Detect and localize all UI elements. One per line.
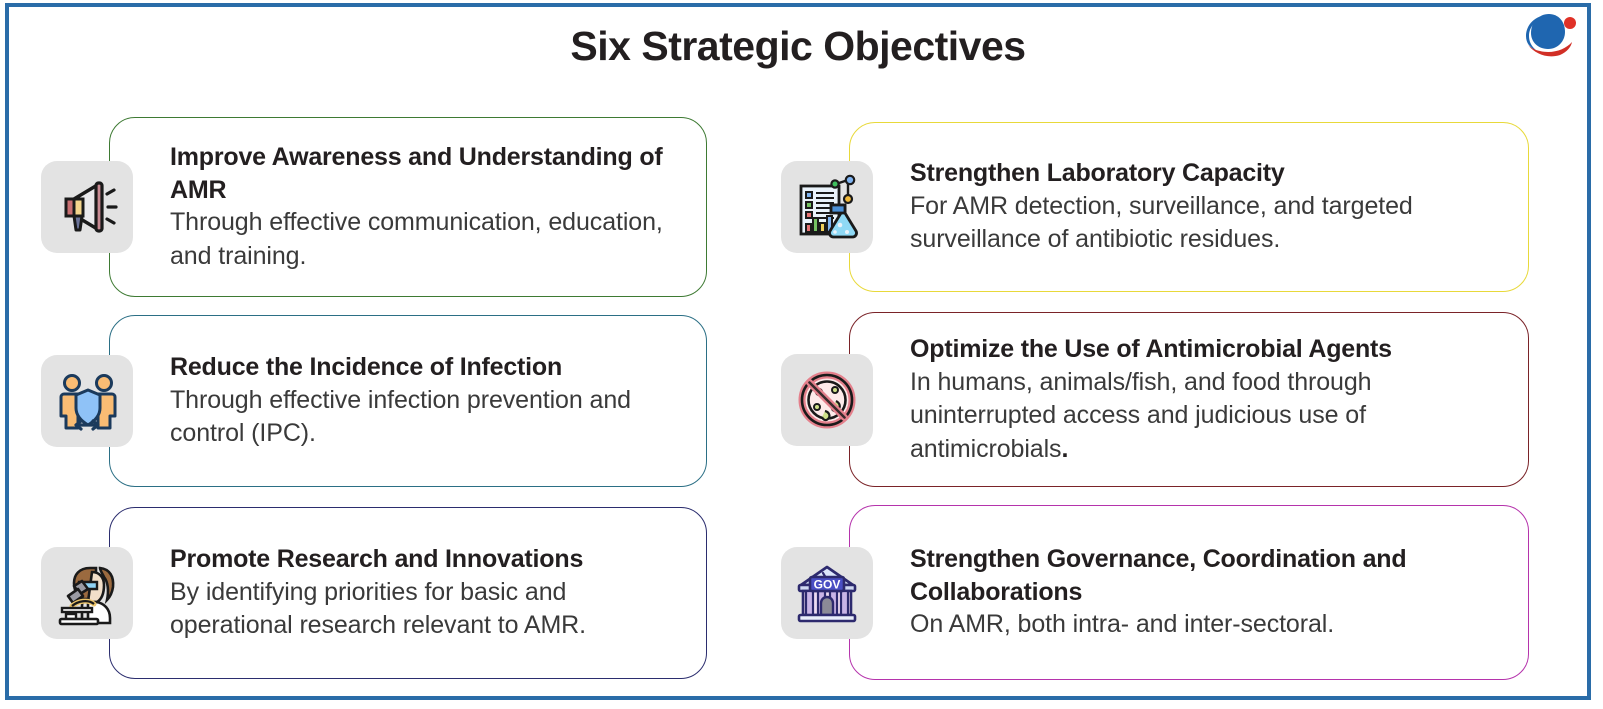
card-body: Reduce the Incidence of Infection Throug…: [109, 315, 707, 487]
objective-card-strengthen-governance[interactable]: GOV Strengthen Governance, Coordination …: [781, 505, 1529, 680]
objective-card-strengthen-laboratory[interactable]: Strengthen Laboratory Capacity For AMR d…: [781, 122, 1529, 292]
card-body: Improve Awareness and Understanding of A…: [109, 117, 707, 297]
objective-card-reduce-incidence[interactable]: Reduce the Incidence of Infection Throug…: [41, 315, 707, 487]
card-description: Through effective infection prevention a…: [170, 384, 684, 451]
lab-report-flask-icon: [781, 161, 873, 253]
svg-text:GOV: GOV: [814, 577, 841, 591]
card-description: By identifying priorities for basic and …: [170, 576, 684, 643]
card-description-period: .: [1061, 435, 1068, 463]
card-body: Optimize the Use of Antimicrobial Agents…: [849, 312, 1529, 487]
card-body: Strengthen Governance, Coordination and …: [849, 505, 1529, 680]
card-title: Strengthen Governance, Coordination and …: [910, 543, 1506, 608]
objective-card-optimize-use[interactable]: Optimize the Use of Antimicrobial Agents…: [781, 312, 1529, 487]
card-title: Improve Awareness and Understanding of A…: [170, 141, 684, 206]
card-title: Promote Research and Innovations: [170, 543, 684, 576]
card-body: Strengthen Laboratory Capacity For AMR d…: [849, 122, 1529, 292]
government-building-icon: GOV: [781, 547, 873, 639]
microscope-scientist-icon: [41, 547, 133, 639]
card-description: In humans, animals/fish, and food throug…: [910, 366, 1506, 467]
slide-frame: Six Strategic Objectives Improve Awarene…: [5, 3, 1591, 700]
card-description-main: In humans, animals/fish, and food throug…: [910, 368, 1371, 463]
objective-card-promote-research[interactable]: Promote Research and Innovations By iden…: [41, 507, 707, 679]
page-title: Six Strategic Objectives: [9, 23, 1587, 70]
objective-card-improve-awareness[interactable]: Improve Awareness and Understanding of A…: [41, 117, 707, 297]
card-title: Strengthen Laboratory Capacity: [910, 157, 1506, 190]
card-description: On AMR, both intra- and inter-sectoral.: [910, 608, 1506, 642]
no-bacteria-icon: [781, 354, 873, 446]
megaphone-icon: [41, 161, 133, 253]
objectives-grid: Improve Awareness and Understanding of A…: [9, 107, 1595, 687]
card-title: Reduce the Incidence of Infection: [170, 351, 684, 384]
infection-prevention-icon: [41, 355, 133, 447]
card-description: Through effective communication, educati…: [170, 206, 684, 273]
card-title: Optimize the Use of Antimicrobial Agents: [910, 333, 1506, 366]
card-body: Promote Research and Innovations By iden…: [109, 507, 707, 679]
card-description: For AMR detection, surveillance, and tar…: [910, 190, 1506, 257]
